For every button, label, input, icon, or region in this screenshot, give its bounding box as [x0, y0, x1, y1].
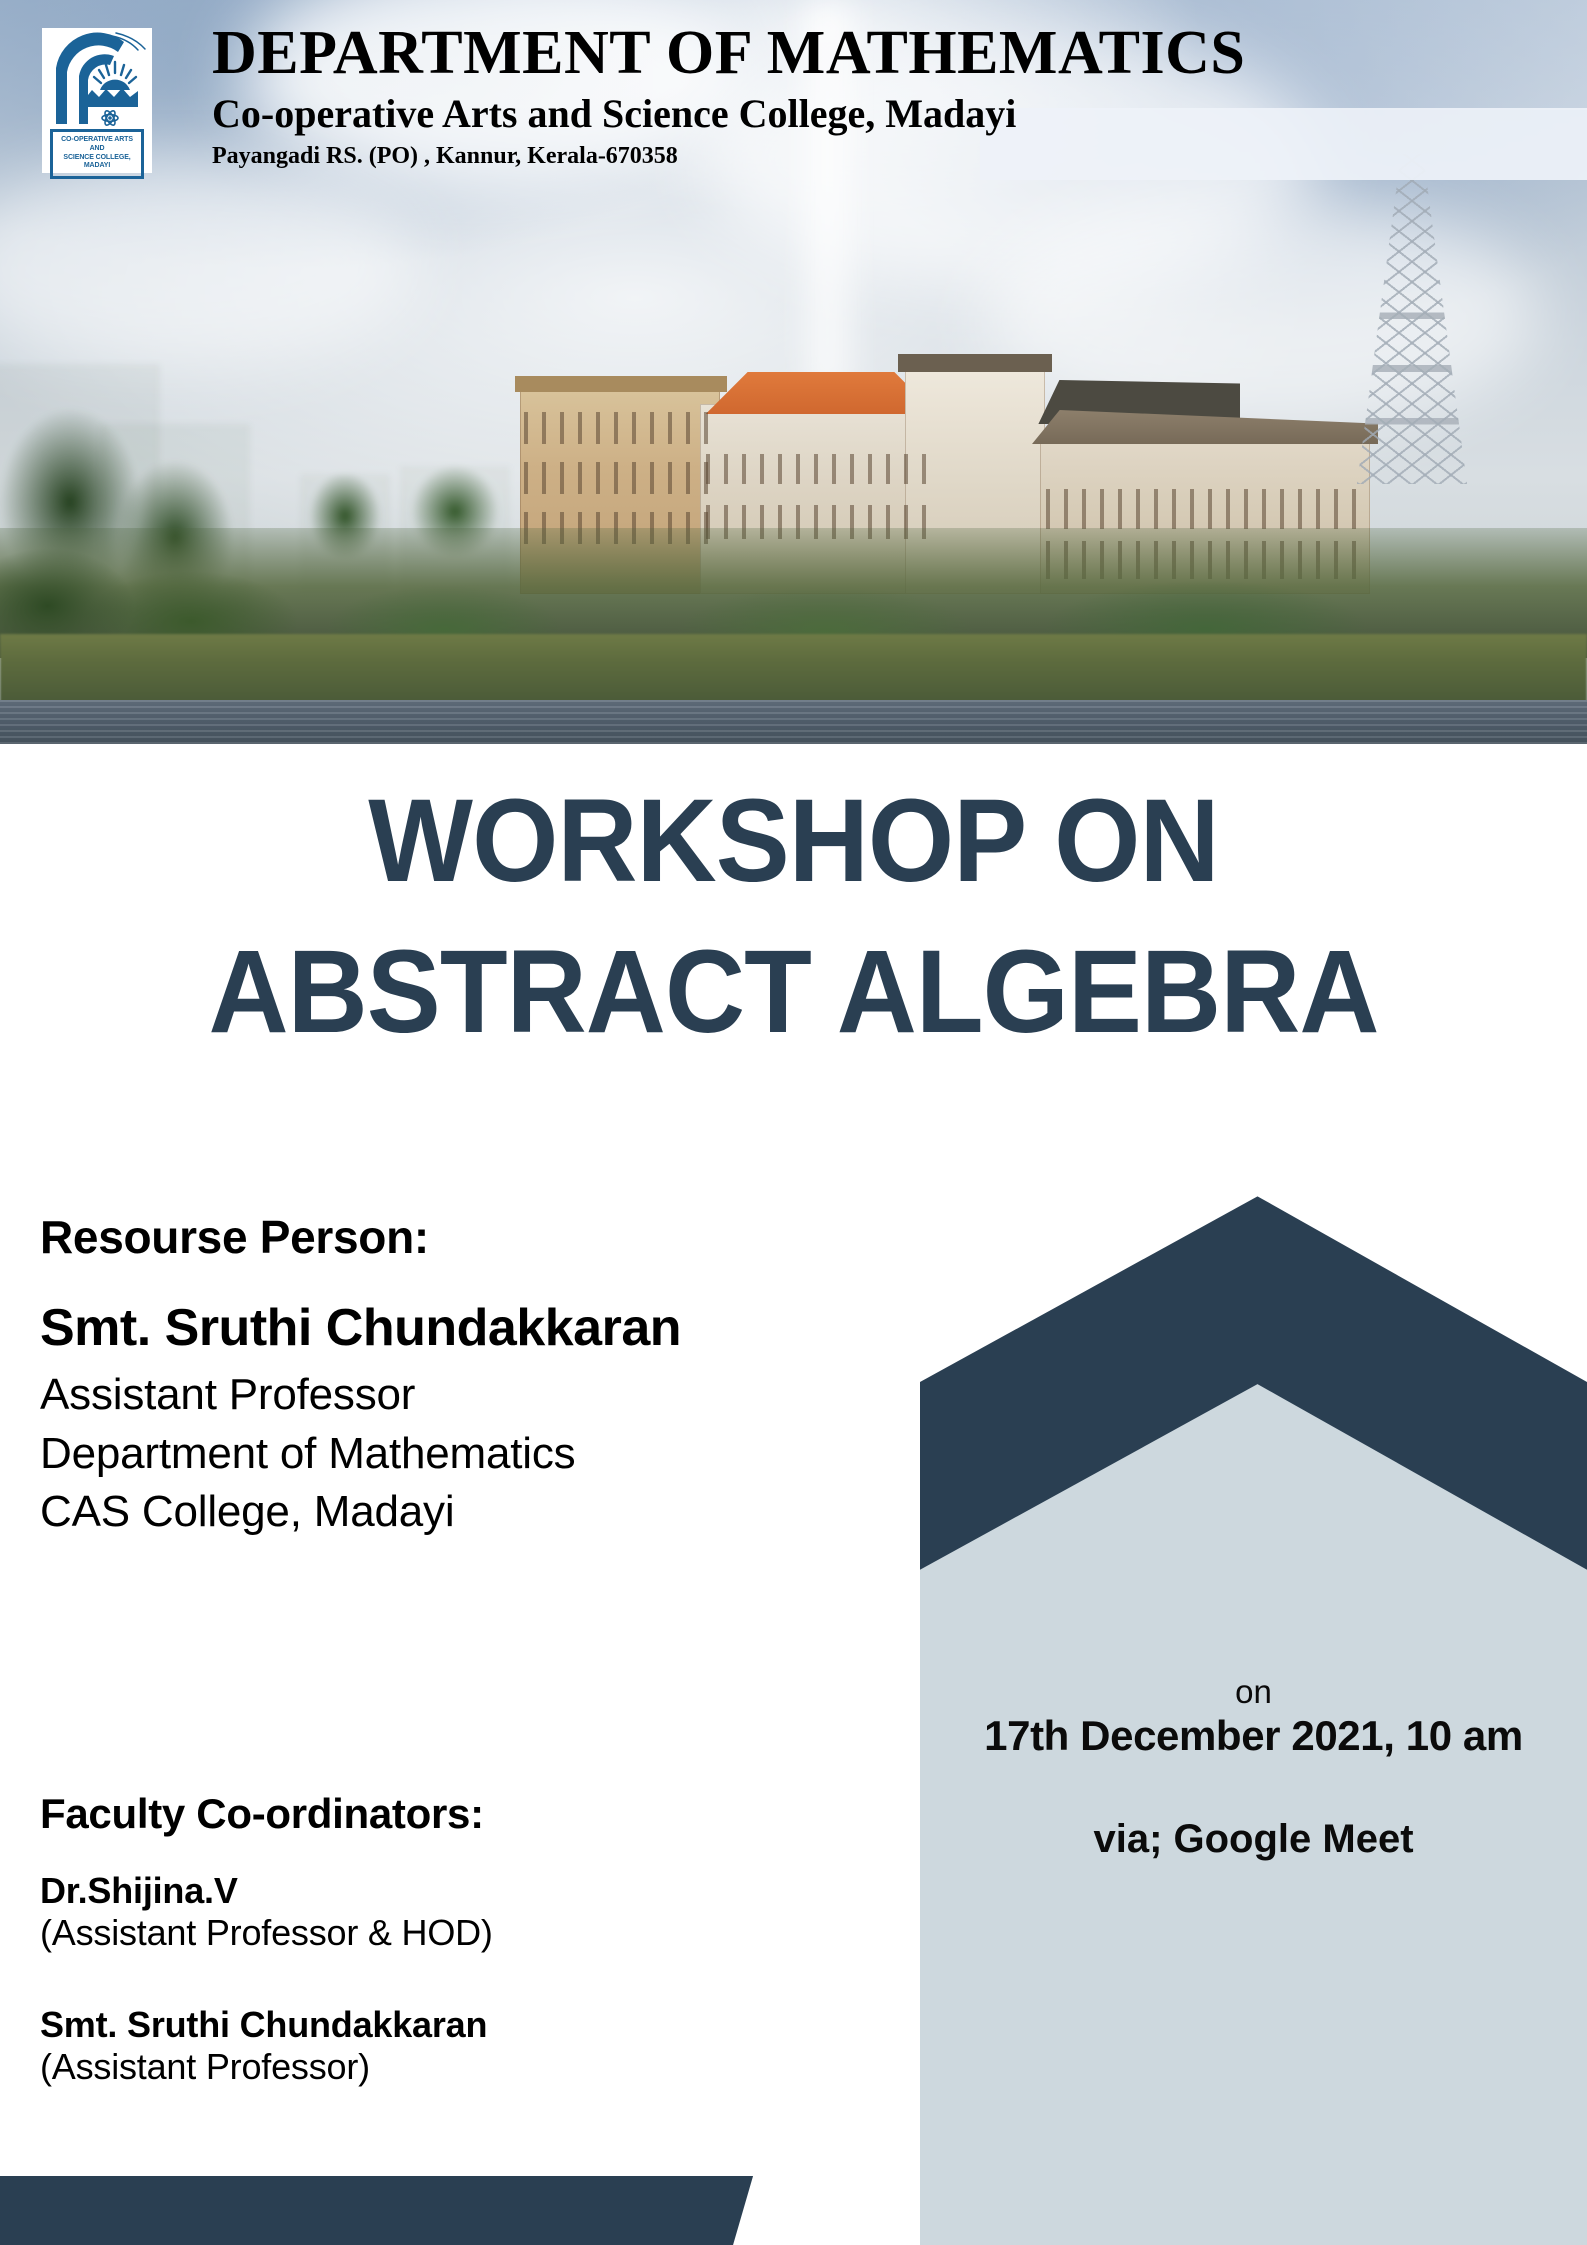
building-windows: [524, 462, 714, 494]
coordinator-name: Smt. Sruthi Chundakkaran: [40, 2004, 493, 2046]
faculty-coordinators-heading: Faculty Co-ordinators:: [40, 1790, 493, 1838]
resource-person-heading: Resourse Person:: [40, 1210, 681, 1264]
logo-caption-line-1: CO-OPERATIVE ARTS AND: [55, 136, 139, 154]
building-windows: [524, 412, 714, 444]
building-windows: [1046, 489, 1362, 529]
faculty-coordinators-section: Faculty Co-ordinators: Dr.Shijina.V (Ass…: [40, 1790, 493, 2088]
logo-caption: CO-OPERATIVE ARTS AND SCIENCE COLLEGE, M…: [50, 129, 144, 179]
event-date-time: 17th December 2021, 10 am: [920, 1712, 1587, 1760]
page-title: WORKSHOP ON ABSTRACT ALGEBRA: [0, 772, 1587, 1062]
resource-person-institution: CAS College, Madayi: [40, 1483, 681, 1542]
building-roof: [898, 354, 1052, 372]
department-title: DEPARTMENT OF MATHEMATICS: [212, 22, 1245, 86]
poster-root: CO-OPERATIVE ARTS AND SCIENCE COLLEGE, M…: [0, 0, 1587, 2245]
college-logo: CO-OPERATIVE ARTS AND SCIENCE COLLEGE, M…: [42, 28, 152, 173]
title-line-1: WORKSHOP ON: [48, 772, 1540, 911]
college-address: Payangadi RS. (PO) , Kannur, Kerala-6703…: [212, 143, 1245, 170]
resource-person-section: Resourse Person: Smt. Sruthi Chundakkara…: [40, 1210, 681, 1542]
logo-emblem-icon: [42, 28, 152, 128]
event-on-label: on: [920, 1673, 1587, 1711]
water-body: [0, 700, 1587, 744]
coordinator-role: (Assistant Professor): [40, 2046, 493, 2088]
building-roof: [515, 376, 727, 392]
title-line-2: ABSTRACT ALGEBRA: [48, 923, 1540, 1062]
resource-person-name: Smt. Sruthi Chundakkaran: [40, 1298, 681, 1358]
header-text-block: DEPARTMENT OF MATHEMATICS Co-operative A…: [212, 22, 1245, 170]
building-windows: [706, 454, 932, 484]
resource-person-designation: Assistant Professor: [40, 1366, 681, 1425]
coordinator-name: Dr.Shijina.V: [40, 1870, 493, 1912]
event-details-panel: on 17th December 2021, 10 am via; Google…: [920, 1190, 1587, 2245]
foreground-field: [0, 634, 1587, 704]
coordinator-role: (Assistant Professor & HOD): [40, 1912, 493, 1954]
resource-person-department: Department of Mathematics: [40, 1425, 681, 1484]
event-details-text: on 17th December 2021, 10 am via; Google…: [920, 1190, 1587, 2245]
bottom-accent-bar: [0, 2176, 770, 2245]
event-platform: via; Google Meet: [920, 1817, 1587, 1862]
college-name: Co-operative Arts and Science College, M…: [212, 90, 1245, 137]
logo-caption-line-2: SCIENCE COLLEGE, MADAYI: [55, 154, 139, 172]
